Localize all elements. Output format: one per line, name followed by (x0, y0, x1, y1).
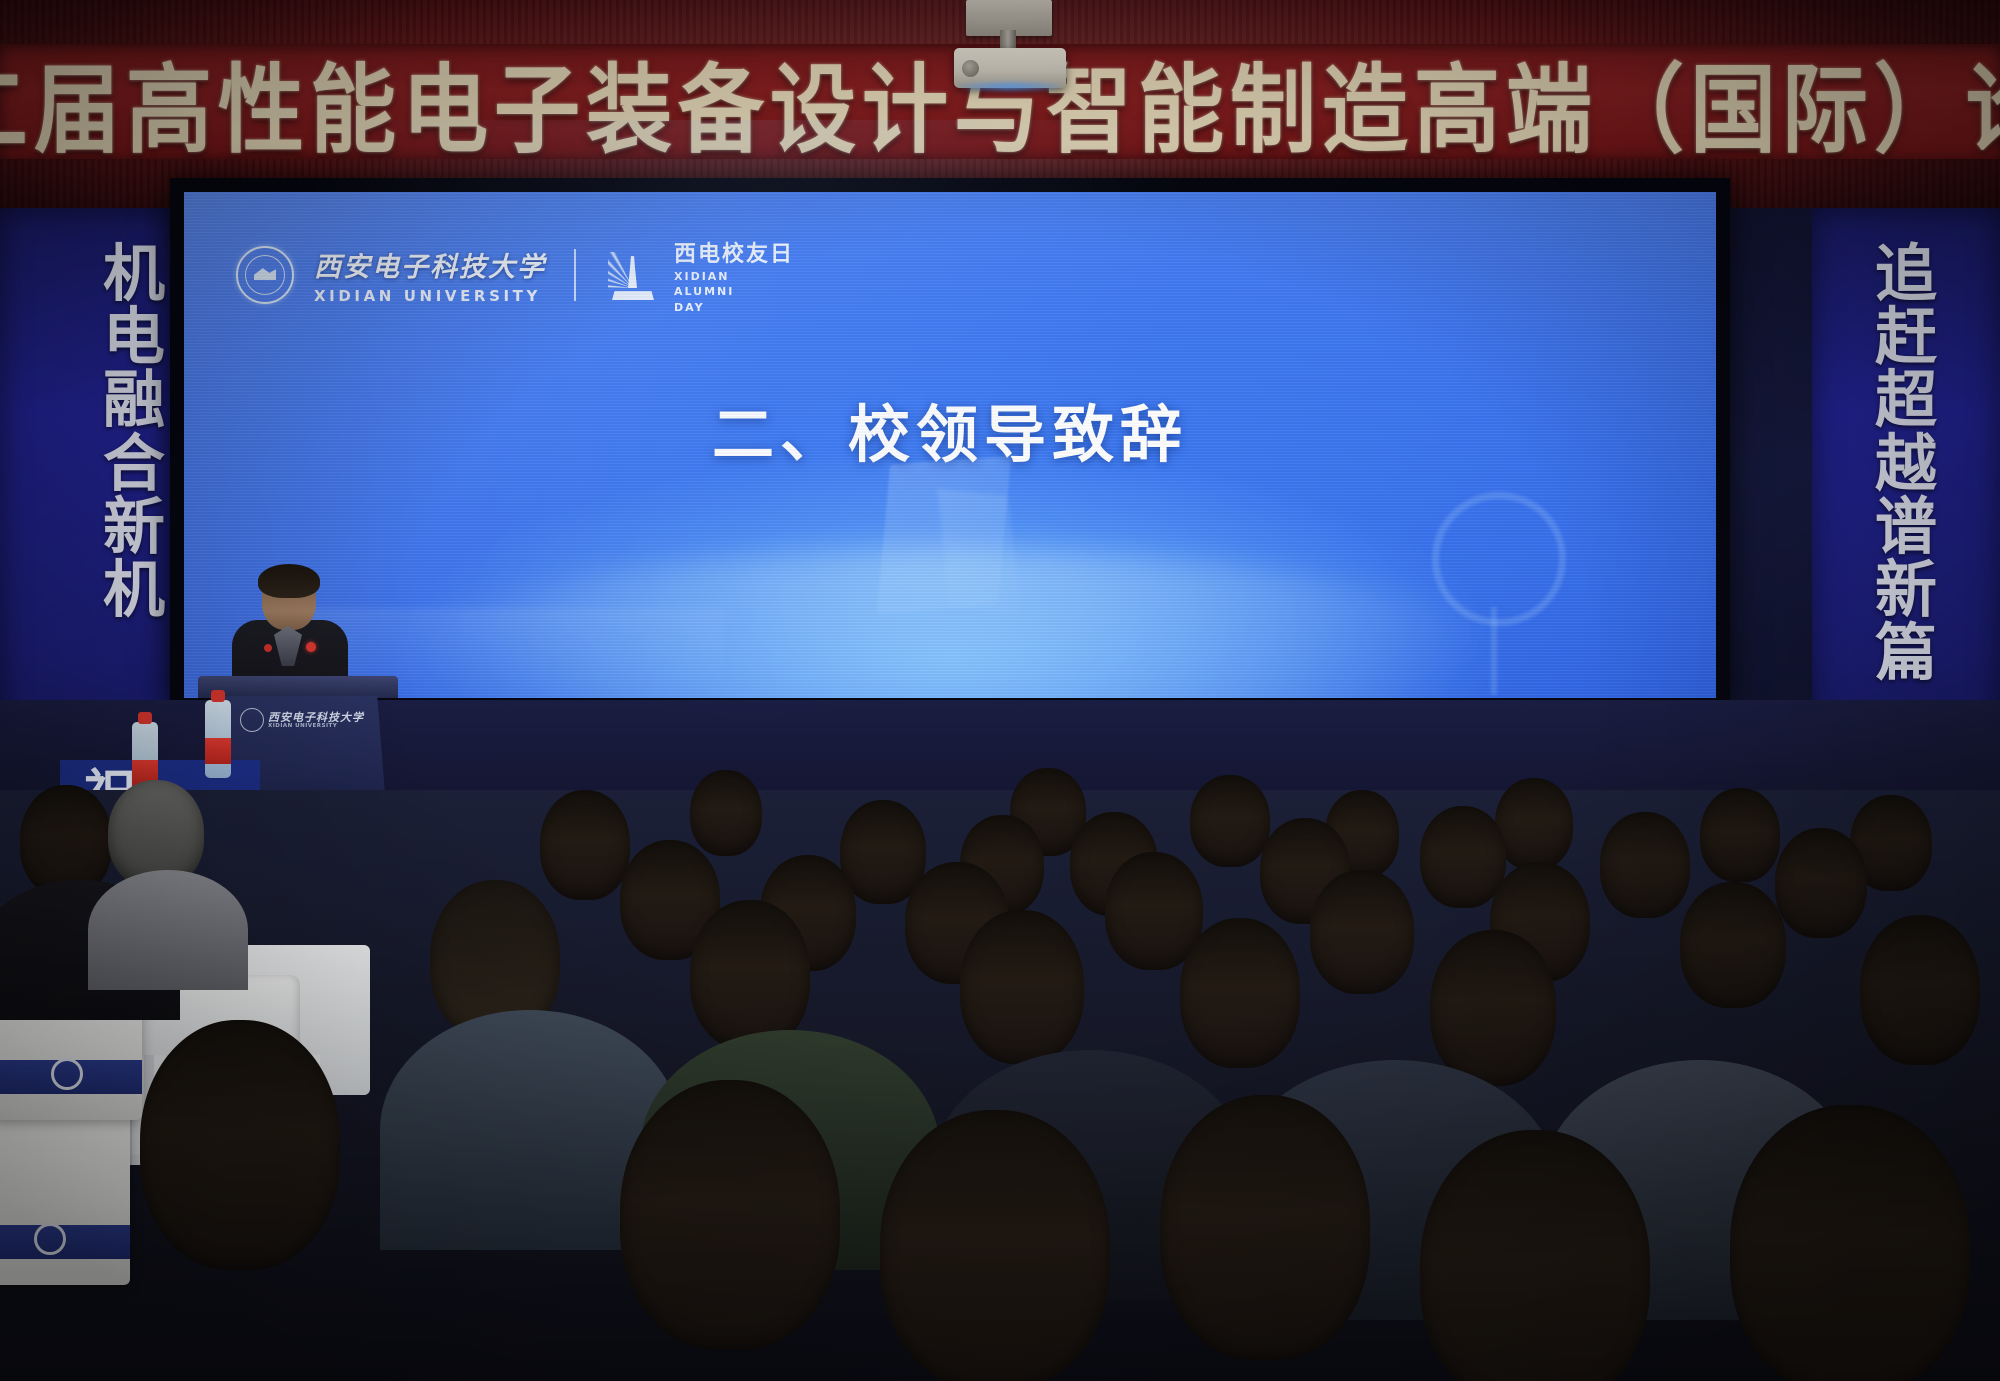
audience-head (1180, 918, 1300, 1068)
projector-lens-icon (962, 60, 979, 77)
podium-university-en: XIDIAN UNIVERSITY (268, 723, 378, 729)
left-banner-char: 电 (103, 305, 165, 368)
audience-head (1680, 882, 1786, 1008)
conference-hall-photo: 第二届高性能电子装备设计与智能制造高端（国际）论坛 机 电 融 合 新 机 追 … (0, 0, 2000, 1381)
alumni-name-block: 西电校友日 XIDIAN ALUMNI DAY (674, 236, 794, 314)
audience-head-foreground (1730, 1105, 1970, 1381)
left-banner-char: 新 (103, 495, 165, 558)
chair-buckle-icon (34, 1223, 66, 1255)
projection-screen-frame: 西安电子科技大学 XIDIAN UNIVERSITY 西电校友日 XIDIAN … (170, 178, 1730, 708)
slide-satellite-dish-graphic (1432, 492, 1566, 626)
audience-head (960, 910, 1084, 1064)
projector-glow (960, 82, 1060, 91)
right-banner-text: 追 赶 超 越 谱 新 篇 (1812, 242, 2000, 685)
vip-shoulders-gray (88, 870, 248, 990)
speaker-hair (258, 564, 320, 598)
logo-divider (574, 249, 576, 301)
left-banner-char: 机 (103, 558, 165, 621)
podium-top (198, 676, 398, 698)
right-banner-char: 谱 (1875, 495, 1937, 558)
alumni-name-cn: 西电校友日 (674, 236, 794, 268)
right-banner-char: 越 (1875, 432, 1937, 495)
audience-head (1860, 915, 1980, 1065)
audience-head (540, 790, 630, 900)
slide-logo-row: 西安电子科技大学 XIDIAN UNIVERSITY 西电校友日 XIDIAN … (236, 236, 794, 314)
audience-head (1190, 775, 1270, 867)
alumni-name-en-3: DAY (674, 301, 794, 314)
right-banner-char: 追 (1875, 242, 1937, 305)
audience-head (1600, 812, 1690, 918)
university-name-block: 西安电子科技大学 XIDIAN UNIVERSITY (314, 245, 546, 305)
audience-head-foreground (620, 1080, 840, 1350)
right-banner-char: 新 (1875, 558, 1937, 621)
left-banner-char: 融 (103, 368, 165, 431)
projection-screen: 西安电子科技大学 XIDIAN UNIVERSITY 西电校友日 XIDIAN … (184, 192, 1716, 698)
audience-head (690, 900, 810, 1050)
podium-seal-icon (240, 708, 264, 732)
audience-head-foreground (880, 1110, 1110, 1381)
audience-head (1420, 806, 1506, 908)
alumni-name-en-1: XIDIAN (674, 270, 794, 283)
audience-head (1775, 828, 1867, 938)
chair-buckle-icon (51, 1058, 83, 1090)
audience-head (1495, 778, 1573, 870)
audience-head-foreground (140, 1020, 340, 1270)
speaker-badge-icon (306, 642, 316, 652)
slide-solar-panel-graphic-2 (937, 489, 1021, 616)
alumni-name-en-2: ALUMNI (674, 285, 794, 298)
left-banner-char: 机 (103, 242, 165, 305)
right-banner-char: 赶 (1875, 305, 1937, 368)
audience-head (1700, 788, 1780, 882)
speaker-badge-icon-2 (264, 644, 272, 652)
alumni-logo-block: 西电校友日 XIDIAN ALUMNI DAY (604, 236, 794, 314)
audience-head (690, 770, 762, 856)
audience-head (1310, 870, 1414, 994)
xidian-seal-icon (236, 246, 294, 304)
audience-head-foreground (1160, 1095, 1370, 1360)
alumni-tower-icon (604, 250, 662, 300)
right-banner-char: 篇 (1875, 621, 1937, 684)
audience-head-foreground (1420, 1130, 1650, 1381)
audience-head (1430, 930, 1556, 1086)
university-name-cn: 西安电子科技大学 (314, 245, 546, 284)
right-banner-char: 超 (1875, 368, 1937, 431)
left-banner-char: 合 (103, 432, 165, 495)
university-name-en: XIDIAN UNIVERSITY (314, 287, 546, 305)
water-bottle (205, 700, 231, 778)
ceiling-projector-icon (954, 48, 1066, 88)
slide-title: 二、校领导致辞 (184, 384, 1716, 474)
alumni-base-shape (612, 291, 654, 300)
